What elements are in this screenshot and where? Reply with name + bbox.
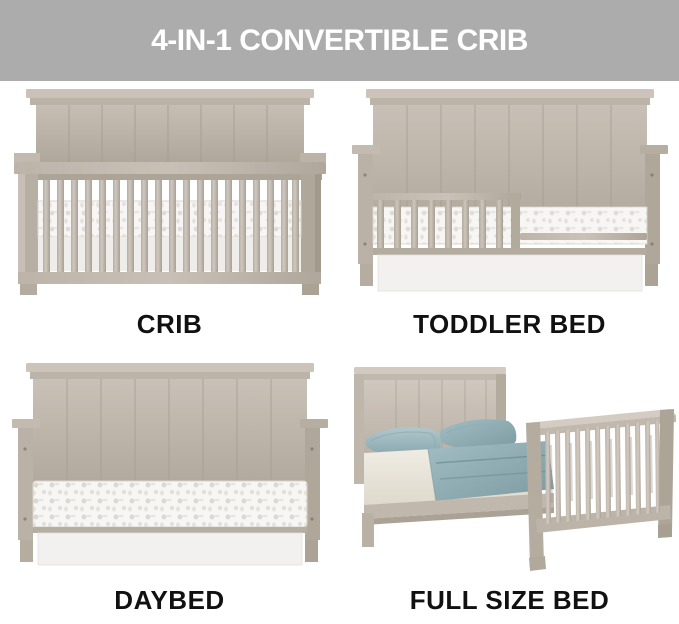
toddler-guard-rail (373, 193, 521, 248)
daybed-svg (0, 353, 339, 581)
conversion-grid: CRIB (0, 81, 679, 624)
full-size-bed-svg (340, 353, 679, 581)
panel-full-size-bed[interactable]: FULL SIZE BED (340, 353, 679, 624)
panel-caption-toddler-bed: TODDLER BED (340, 309, 679, 340)
product-infographic: 4-IN-1 CONVERTIBLE CRIB (0, 0, 679, 624)
toddler-bed-illustration (340, 81, 679, 309)
page-title: 4-IN-1 CONVERTIBLE CRIB (151, 24, 528, 58)
panel-caption-daybed: DAYBED (0, 585, 339, 616)
full-size-bed-illustration (340, 353, 679, 581)
panel-crib[interactable]: CRIB (0, 81, 339, 352)
toddler-bed-svg (340, 81, 679, 309)
panel-caption-full-size-bed: FULL SIZE BED (340, 585, 679, 616)
panel-caption-crib: CRIB (0, 309, 339, 340)
crib-illustration (0, 81, 339, 309)
panel-daybed[interactable]: DAYBED (0, 353, 339, 624)
header-banner: 4-IN-1 CONVERTIBLE CRIB (0, 0, 679, 81)
panel-toddler-bed[interactable]: TODDLER BED (340, 81, 679, 352)
daybed-illustration (0, 353, 339, 581)
crib-svg (0, 81, 339, 309)
